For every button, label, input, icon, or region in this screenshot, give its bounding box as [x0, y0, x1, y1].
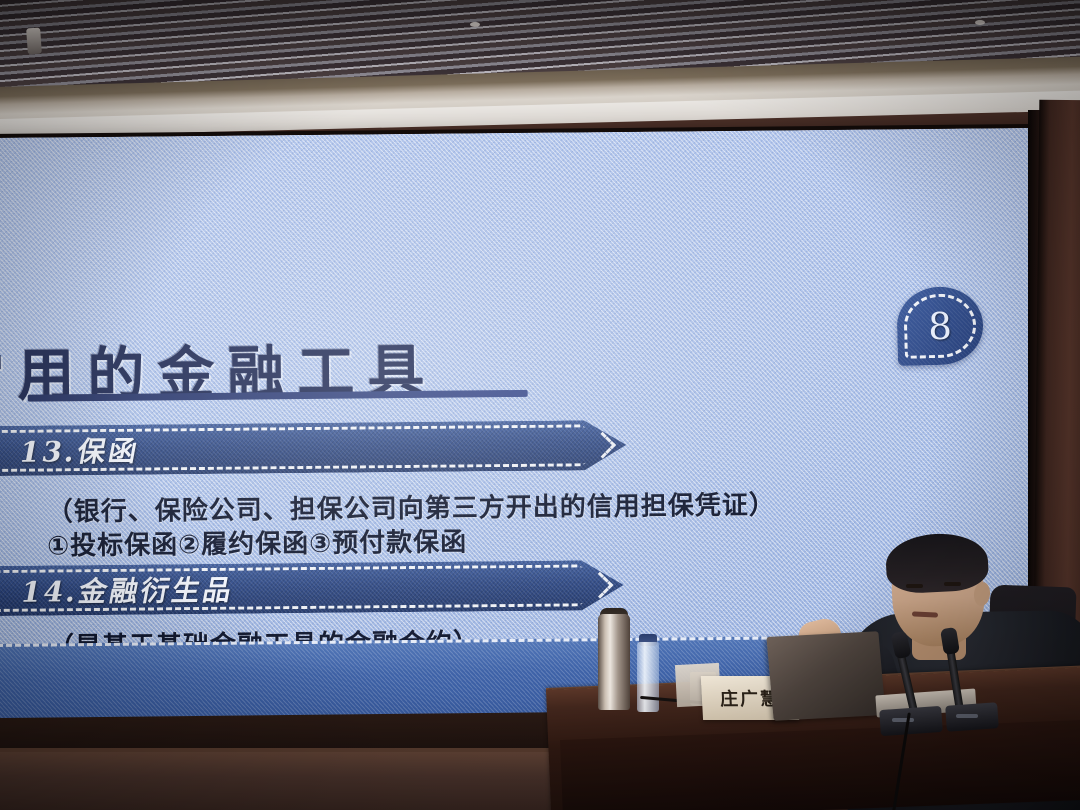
body-line: （银行、保险公司、担保公司向第三方开出的信用担保凭证） [47, 489, 776, 530]
microphone-indicator [956, 714, 978, 718]
vacuum-flask [598, 614, 630, 710]
section-banner-label: 13.保函 [17, 430, 144, 471]
page-number-text: 8 [896, 286, 984, 366]
section-body-13: （银行、保险公司、担保公司向第三方开出的信用担保凭证） ①投标保函②履约保函③预… [47, 489, 777, 564]
section-banner-label: 14.金融衍生品 [18, 569, 238, 611]
photo-scene: 常用的金融工具 8 13.保函 （银行、保险公司、担保公司向第三方开出的信用担保… [0, 0, 1080, 810]
presenter-eye [944, 582, 961, 586]
page-number-badge: 8 [896, 286, 984, 366]
floor [0, 752, 610, 810]
ceiling-light-icon [975, 20, 985, 25]
laptop-lid [766, 631, 885, 721]
microphone-indicator [892, 718, 914, 722]
section-banner-13: 13.保函 [0, 420, 626, 476]
water-bottle [637, 642, 659, 712]
ceiling-sensor-icon [26, 28, 42, 55]
presenter-eye [906, 584, 923, 588]
body-line: ①投标保函②履约保函③预付款保函 [47, 522, 776, 563]
ceiling-light-icon [470, 22, 480, 27]
section-banner-14: 14.金融衍生品 [0, 560, 624, 616]
